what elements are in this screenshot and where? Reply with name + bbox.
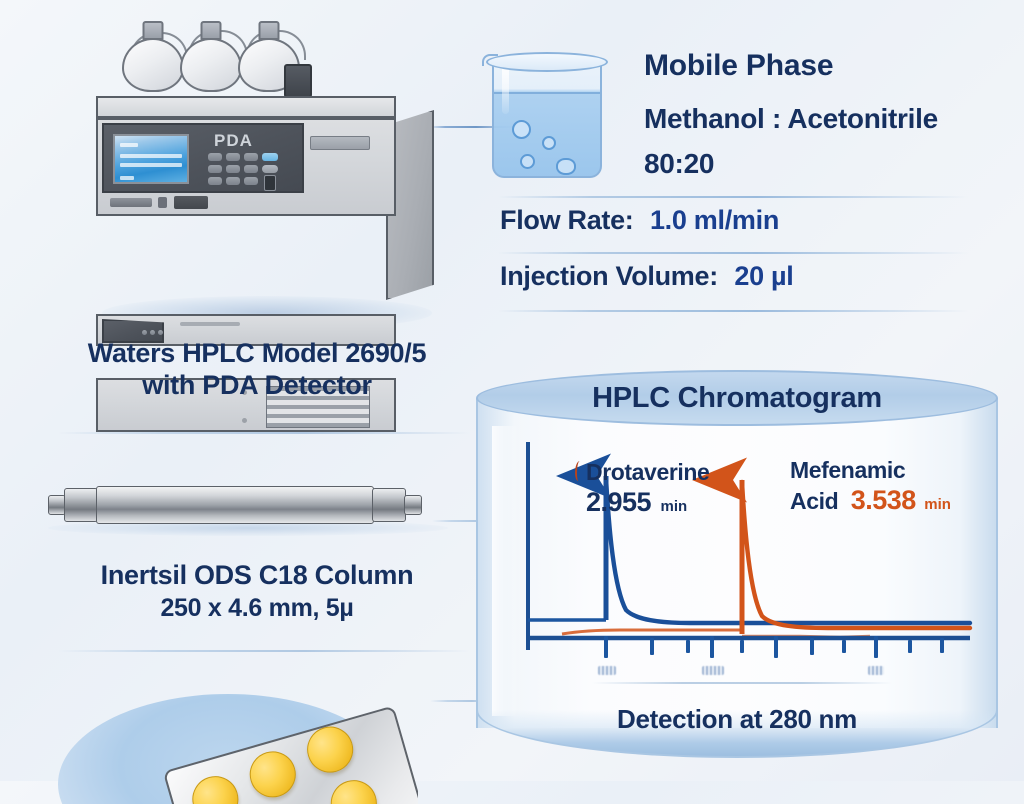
mobile-phase-composition: Methanol : Acetonitrile xyxy=(644,103,1024,134)
instrument-caption-line1: Waters HPLC Model 2690/5 xyxy=(52,338,462,370)
divider-above-injection-volume xyxy=(498,252,968,254)
beaker-gloss xyxy=(502,64,509,114)
beaker-glass xyxy=(492,58,602,178)
instrument-top-lid xyxy=(96,96,396,118)
mobile-phase-ratio: 80:20 xyxy=(644,148,1024,179)
column-end-fitting-left xyxy=(64,488,98,522)
beaker-spout xyxy=(482,54,498,66)
peak-rt-unit-drotaverine: min xyxy=(661,498,688,515)
tablet xyxy=(268,799,325,804)
beaker-bubble xyxy=(542,136,556,150)
peak-annotation-mefenamic: Mefenamic Acid 3.538 min xyxy=(790,458,990,516)
x-tick-label xyxy=(702,666,724,675)
bottle-neck xyxy=(201,21,222,40)
column-caption-line2: 250 x 4.6 mm, 5µ xyxy=(52,594,462,623)
peak-name-mefenamic-line1: Mefenamic xyxy=(790,458,990,483)
hplc-column-illustration xyxy=(48,478,448,530)
x-tick-label xyxy=(868,666,884,675)
flow-rate-value: 1.0 ml/min xyxy=(650,205,779,235)
peak-annotation-drotaverine: Drotaverine 2.955 min xyxy=(586,460,766,518)
peak-name-drotaverine: Drotaverine xyxy=(586,460,766,485)
divider-instrument-column xyxy=(58,432,470,434)
instrument-lcd-screen[interactable] xyxy=(113,134,189,184)
beaker-liquid-surface xyxy=(494,92,600,94)
pda-display-label: PDA xyxy=(214,131,253,151)
solvent-bottle-1 xyxy=(122,38,184,92)
column-end-fitting-right xyxy=(372,488,406,522)
beaker-bubble xyxy=(556,158,576,175)
peak-rt-mefenamic: 3.538 xyxy=(851,485,916,515)
infographic-canvas: PDA xyxy=(0,0,1024,781)
detection-wavelength-caption: Detection at 280 nm xyxy=(476,704,998,735)
column-barrel xyxy=(96,486,374,524)
instrument-indicator xyxy=(158,197,167,208)
column-end-fitting-right-tip xyxy=(404,495,422,515)
x-axis-underline xyxy=(592,682,892,684)
tablet xyxy=(302,721,359,778)
injection-volume-label: Injection Volume: xyxy=(500,261,718,291)
instrument-vent-slot xyxy=(310,136,370,150)
divider-below-injection-volume xyxy=(498,310,968,312)
instrument-caption-line2: with PDA Detector xyxy=(52,370,462,402)
injection-volume-value: 20 µl xyxy=(734,261,793,291)
divider-above-flow-rate xyxy=(498,196,968,198)
pump-screw-bottom xyxy=(242,418,247,423)
beaker-illustration xyxy=(484,44,616,204)
beaker-rim xyxy=(486,52,608,72)
bottle-body xyxy=(180,38,242,92)
instrument-keypad[interactable] xyxy=(208,153,286,191)
parameter-row-injection-volume: Injection Volume: 20 µl xyxy=(500,262,970,292)
instrument-label-plate xyxy=(174,196,208,209)
peak-rt-unit-mefenamic: min xyxy=(924,496,951,513)
x-tick-label xyxy=(598,666,616,675)
divider-column-sample xyxy=(58,650,470,652)
parameter-row-flow-rate: Flow Rate: 1.0 ml/min xyxy=(500,206,970,236)
beaker-bubble xyxy=(520,154,535,169)
power-switch[interactable] xyxy=(264,175,276,191)
flow-rate-label: Flow Rate: xyxy=(500,205,634,235)
instrument-upper-unit: PDA xyxy=(96,118,396,216)
tablet xyxy=(244,746,301,803)
instrument-front-panel: PDA xyxy=(102,123,304,193)
bottle-neck xyxy=(143,21,164,40)
peak-rt-drotaverine: 2.955 xyxy=(586,487,651,517)
bottle-body xyxy=(122,38,184,92)
autosampler-drawer-slot[interactable] xyxy=(180,322,240,326)
tablet-sample-illustration xyxy=(58,694,418,804)
tablet xyxy=(325,775,382,804)
mobile-phase-title: Mobile Phase xyxy=(644,50,1024,82)
column-caption-line1: Inertsil ODS C18 Column xyxy=(52,560,462,592)
peak-marker-artifact xyxy=(575,461,583,481)
tablet xyxy=(187,771,244,804)
bottle-neck xyxy=(259,21,280,40)
hplc-instrument-illustration: PDA xyxy=(96,24,446,324)
instrument-tray-handle[interactable] xyxy=(110,198,152,207)
peak-name-mefenamic-line2: Acid xyxy=(790,488,838,514)
chromatogram-panel: HPLC Chromatogram xyxy=(476,370,998,770)
orange-baseline-left xyxy=(562,630,742,634)
detector-module-block xyxy=(284,64,312,98)
solvent-bottle-2 xyxy=(180,38,242,92)
chromatogram-title: HPLC Chromatogram xyxy=(476,382,998,415)
beaker-bubble xyxy=(512,120,531,139)
